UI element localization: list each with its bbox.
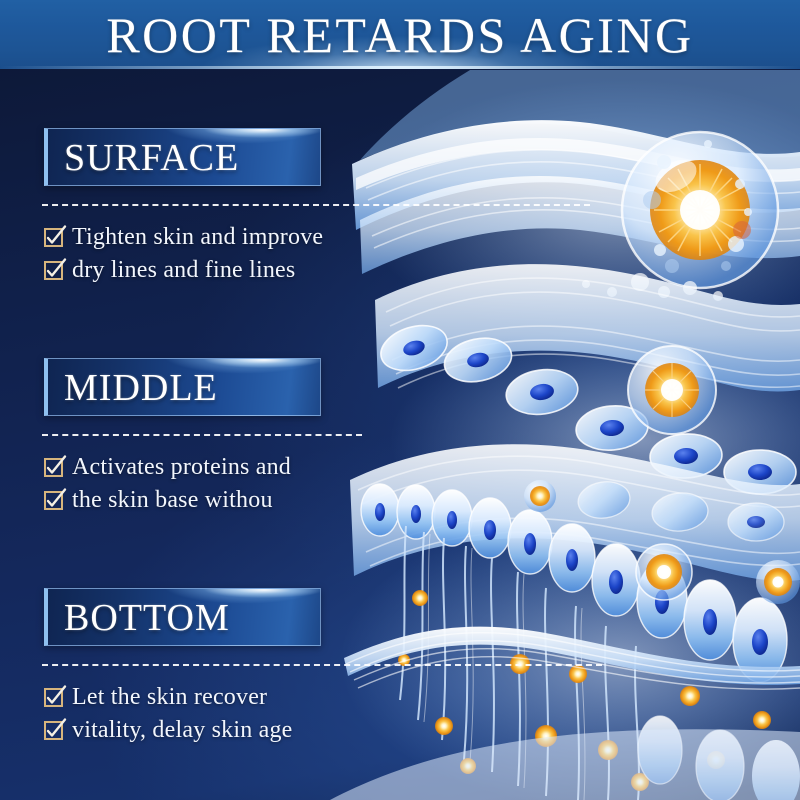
section-label-text: MIDDLE: [64, 359, 218, 416]
list-item: vitality, delay skin age: [44, 715, 293, 748]
list-item-label: Tighten skin and improve: [72, 222, 323, 252]
checkbox-checked-icon: [44, 721, 63, 740]
page-title: ROOT RETARDS AGING: [0, 0, 800, 69]
header-banner: ROOT RETARDS AGING: [0, 0, 800, 69]
checkbox-checked-icon: [44, 688, 63, 707]
list-item-label: vitality, delay skin age: [72, 715, 293, 745]
checkbox-checked-icon: [44, 261, 63, 280]
section-label-text: SURFACE: [64, 129, 239, 186]
glowing-sphere-surface: [622, 132, 778, 288]
list-item: Activates proteins and: [44, 452, 291, 485]
section-label-bottom: BOTTOM: [44, 588, 321, 646]
list-item-label: Let the skin recover: [72, 682, 267, 712]
list-item: Tighten skin and improve: [44, 222, 323, 255]
poster-canvas: ROOT RETARDS AGING SURFACE Tighten skin …: [0, 0, 800, 800]
section-label-text: BOTTOM: [64, 589, 230, 646]
bullet-list-surface: Tighten skin and improve dry lines and f…: [44, 222, 323, 288]
list-item: dry lines and fine lines: [44, 255, 323, 288]
list-item: the skin base withou: [44, 485, 291, 518]
section-divider: [42, 204, 590, 206]
section-divider: [42, 434, 362, 436]
bullet-list-bottom: Let the skin recover vitality, delay ski…: [44, 682, 293, 748]
checkbox-checked-icon: [44, 458, 63, 477]
section-label-surface: SURFACE: [44, 128, 321, 186]
bullet-list-middle: Activates proteins and the skin base wit…: [44, 452, 291, 518]
list-item: Let the skin recover: [44, 682, 293, 715]
checkbox-checked-icon: [44, 228, 63, 247]
list-item-label: dry lines and fine lines: [72, 255, 295, 285]
section-label-middle: MIDDLE: [44, 358, 321, 416]
glowing-sphere-middle: [628, 346, 716, 434]
list-item-label: Activates proteins and: [72, 452, 291, 482]
section-divider: [42, 664, 602, 666]
checkbox-checked-icon: [44, 491, 63, 510]
list-item-label: the skin base withou: [72, 485, 273, 515]
